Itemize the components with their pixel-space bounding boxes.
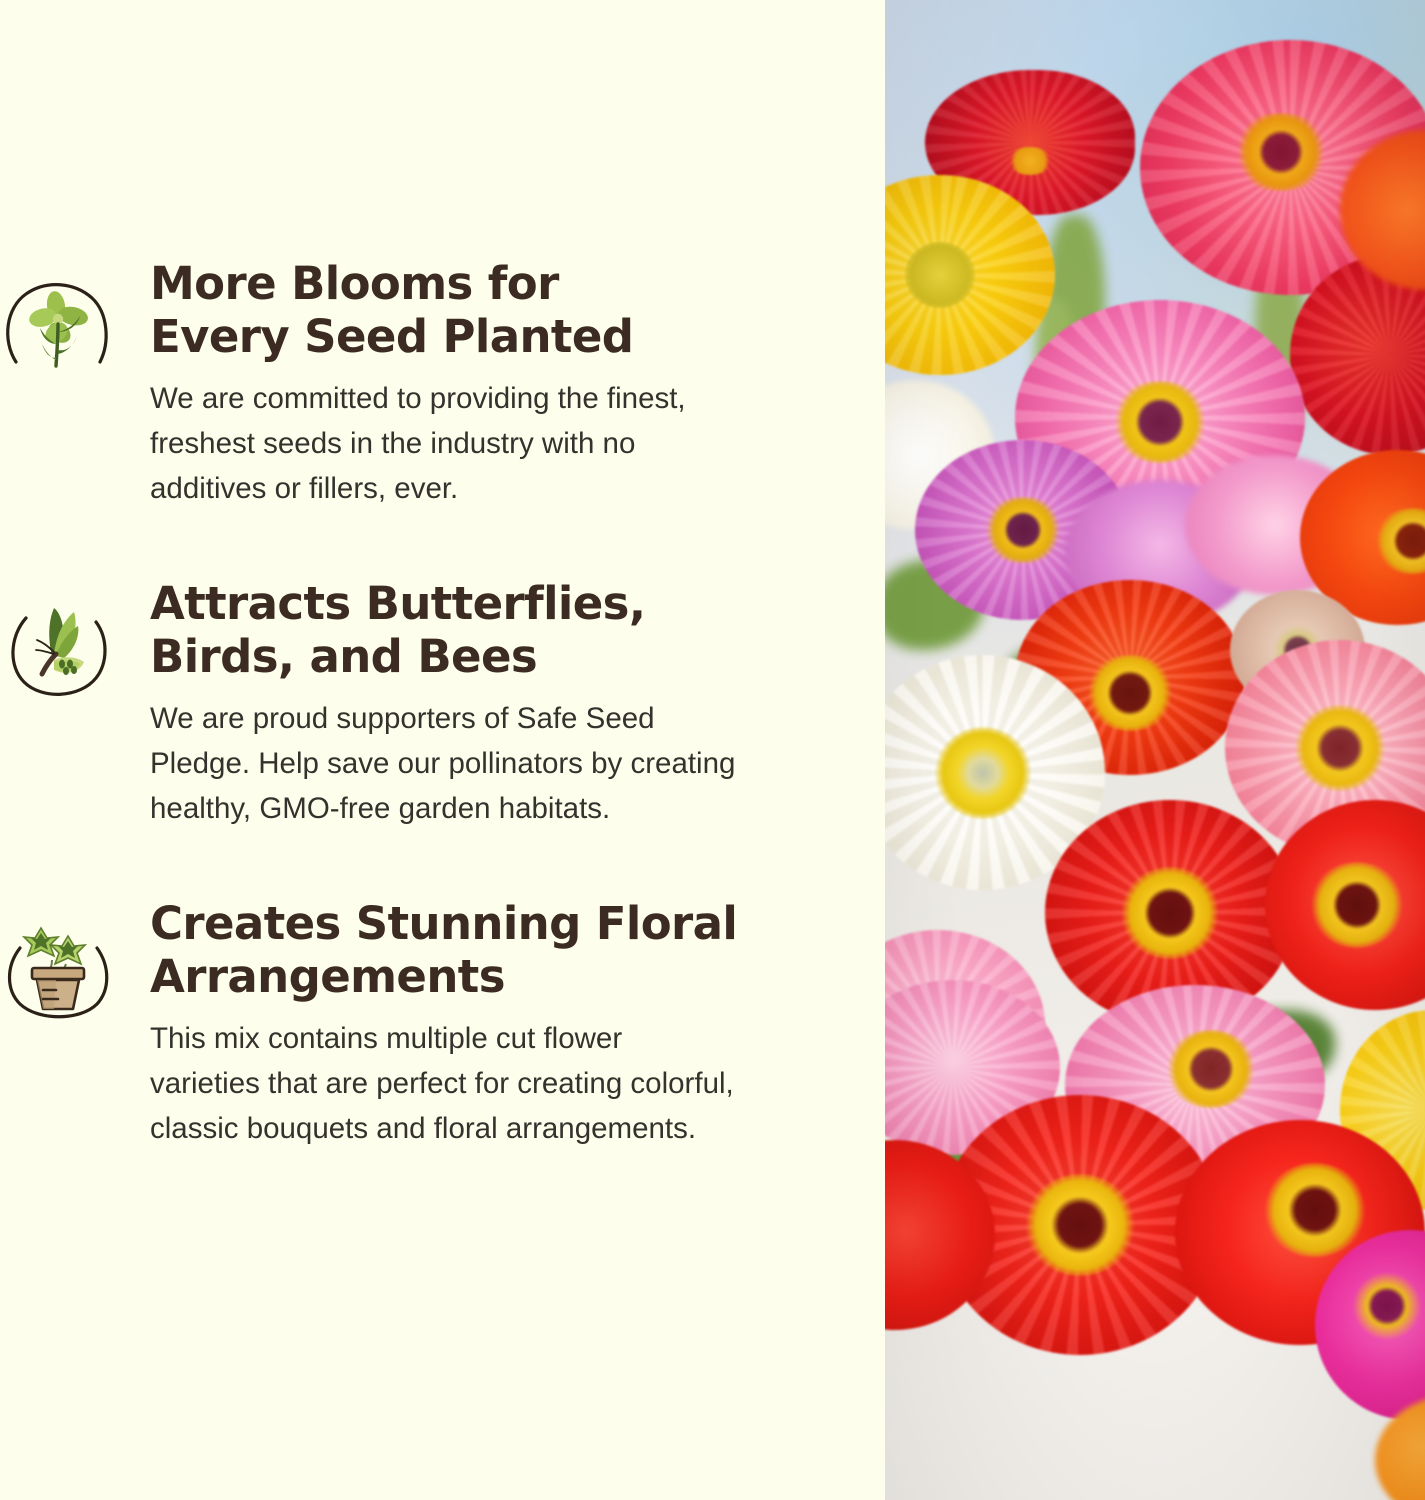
feature-item-more-blooms: More Blooms for Every Seed Planted We ar… bbox=[0, 258, 885, 558]
photo-canvas bbox=[885, 0, 1425, 1500]
feature-title: Attracts Butterflies, Birds, and Bees bbox=[150, 578, 850, 683]
feature-body: We are proud supporters of Safe Seed Ple… bbox=[150, 697, 865, 831]
feature-item-floral-arrangements: Creates Stunning Floral Arrangements Thi… bbox=[0, 898, 885, 1198]
text-panel: More Blooms for Every Seed Planted We ar… bbox=[0, 0, 885, 1500]
feature-item-attracts-pollinators: Attracts Butterflies, Birds, and Bees We… bbox=[0, 578, 885, 878]
product-feature-panel: More Blooms for Every Seed Planted We ar… bbox=[0, 0, 1425, 1500]
feature-body: This mix contains multiple cut flower va… bbox=[150, 1017, 862, 1151]
butterfly-in-circle-icon bbox=[4, 594, 112, 702]
feature-title: More Blooms for Every Seed Planted bbox=[150, 258, 850, 363]
feature-body: We are committed to providing the finest… bbox=[150, 377, 850, 511]
feature-title: Creates Stunning Floral Arrangements bbox=[150, 898, 870, 1003]
flower-in-circle-icon bbox=[4, 274, 112, 382]
feature-list: More Blooms for Every Seed Planted We ar… bbox=[0, 258, 885, 1198]
zinnia-bouquet-photo bbox=[885, 0, 1425, 1500]
potted-plant-in-circle-icon bbox=[4, 914, 112, 1022]
